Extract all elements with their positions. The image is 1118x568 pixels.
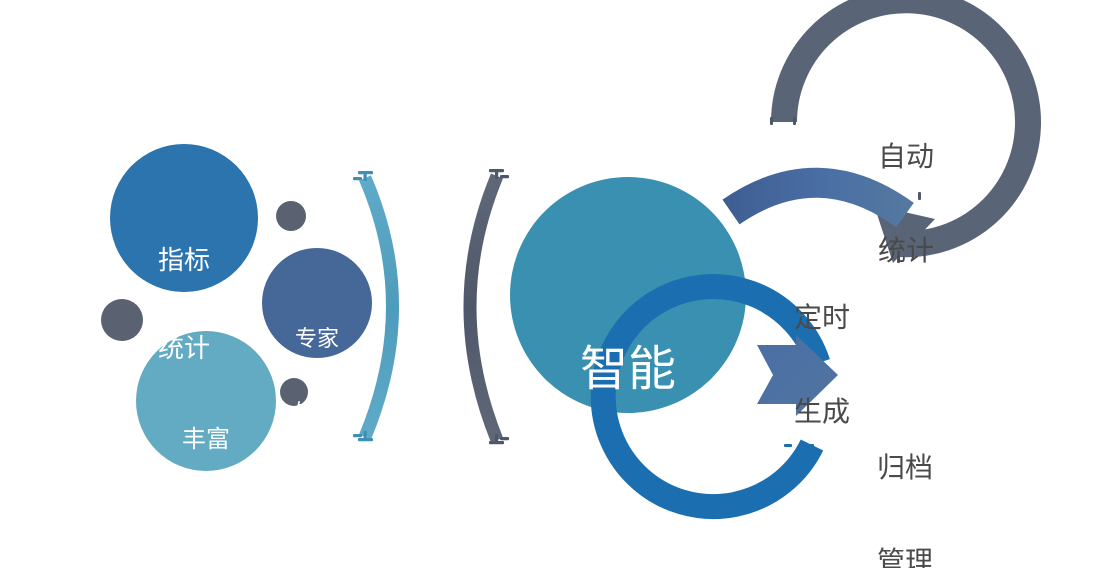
accent-dot-left: [101, 299, 143, 341]
blue-band-path: [731, 183, 905, 215]
bracket-right-arc-path: [470, 176, 497, 440]
connector-arc-to-auto-stats[interactable]: [731, 183, 905, 215]
circle-metrics-stats[interactable]: [110, 144, 258, 292]
accent-dot-bottom: [280, 378, 308, 406]
circle-rich-charts[interactable]: [136, 331, 276, 471]
left-cluster-circles: [110, 144, 372, 471]
diagram-svg: [0, 0, 1118, 568]
circle-expert-knowledge[interactable]: [262, 248, 372, 358]
bracket-right-gray[interactable]: [470, 169, 509, 444]
bent-arrow-shape: [757, 335, 838, 416]
accent-dot-top: [276, 201, 306, 231]
connector-arrow-to-archive[interactable]: [757, 335, 838, 416]
circular-arrow-auto-stats[interactable]: [770, 0, 1028, 263]
diagram-canvas: 指标 统计 专家 知识 丰富 图表 智能 报告 自动 统计 定时 生成 归档 管…: [0, 0, 1118, 568]
